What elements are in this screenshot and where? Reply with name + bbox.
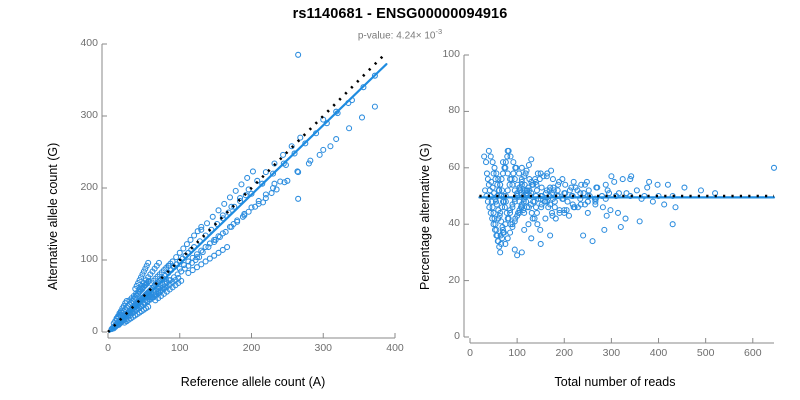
scatter-point <box>482 154 487 159</box>
right-x-axis-title: Total number of reads <box>470 375 760 389</box>
scatter-point <box>698 188 703 193</box>
scatter-point <box>600 205 605 210</box>
scatter-point <box>550 177 555 182</box>
scatter-point <box>647 179 652 184</box>
scatter-point <box>505 188 510 193</box>
scatter-point <box>585 210 590 215</box>
scatter-point <box>484 171 489 176</box>
scatter-point <box>486 148 491 153</box>
scatter-point <box>608 208 613 213</box>
scatter-point <box>296 196 301 201</box>
scatter-point <box>535 222 540 227</box>
scatter-point <box>620 177 625 182</box>
scatter-point <box>239 182 244 187</box>
x-tick-label: 100 <box>155 342 205 354</box>
scatter-point <box>511 160 516 165</box>
scatter-point <box>560 177 565 182</box>
scatter-point <box>522 227 527 232</box>
scatter-point <box>269 191 274 196</box>
axes-group <box>464 55 774 343</box>
x-tick-label: 500 <box>681 347 731 359</box>
identity-line <box>108 53 386 332</box>
y-tick-label: 0 <box>416 330 460 342</box>
scatter-point <box>602 227 607 232</box>
scatter-point <box>216 208 221 213</box>
y-tick-label: 400 <box>54 37 98 49</box>
scatter-point <box>618 225 623 230</box>
scatter-point <box>603 182 608 187</box>
scatter-point <box>334 137 339 142</box>
x-tick-label: 200 <box>539 347 589 359</box>
scatter-point <box>245 175 250 180</box>
scatter-point <box>174 255 179 260</box>
scatter-point <box>534 188 539 193</box>
scatter-point <box>581 233 586 238</box>
scatter-point <box>665 182 670 187</box>
scatter-point <box>623 216 628 221</box>
scatter-point <box>498 250 503 255</box>
scatter-point <box>604 213 609 218</box>
left-plot-svg <box>0 0 410 400</box>
scatter-point <box>548 233 553 238</box>
y-tick-label: 60 <box>416 161 460 173</box>
scatter-point <box>372 104 377 109</box>
scatter-point <box>655 182 660 187</box>
scatter-point <box>552 205 557 210</box>
scatter-point <box>673 205 678 210</box>
scatter-point <box>637 219 642 224</box>
scatter-point <box>662 202 667 207</box>
scatter-point <box>225 245 230 250</box>
y-tick-label: 0 <box>54 325 98 337</box>
scatter-point <box>508 154 513 159</box>
scatter-point <box>650 199 655 204</box>
y-tick-label: 300 <box>54 109 98 121</box>
scatter-point <box>321 117 326 122</box>
x-tick-label: 300 <box>586 347 636 359</box>
scatter-panel-reads-vs-percentage: Percentage alternative (G) Total number … <box>410 0 800 400</box>
scatter-point <box>192 233 197 238</box>
scatter-point <box>566 213 571 218</box>
left-y-axis-title: Alternative allele count (G) <box>46 143 60 290</box>
scatter-point <box>508 230 513 235</box>
scatter-point <box>512 247 517 252</box>
scatter-point <box>529 236 534 241</box>
scatter-point <box>227 195 232 200</box>
x-tick-label: 600 <box>728 347 778 359</box>
scatter-point <box>519 250 524 255</box>
scatter-point <box>188 237 193 242</box>
scatter-point <box>538 227 543 232</box>
scatter-point <box>499 177 504 182</box>
scatter-point <box>205 221 210 226</box>
scatter-point <box>609 174 614 179</box>
scatter-point <box>181 246 186 251</box>
scatter-point <box>529 210 534 215</box>
scatter-point <box>222 201 227 206</box>
regression-line <box>109 64 386 332</box>
scatter-panel-reference-vs-alternative: Alternative allele count (G) Reference a… <box>0 0 410 400</box>
scatter-point <box>511 171 516 176</box>
scatter-point <box>360 115 365 120</box>
scatter-point <box>485 177 490 182</box>
right-plot-svg <box>410 0 800 400</box>
scatter-point <box>505 236 510 241</box>
figure-canvas: rs1140681 - ENSG00000094916 p-value: 4.2… <box>0 0 800 400</box>
scatter-point <box>526 222 531 227</box>
scatter-point <box>210 214 215 219</box>
scatter-point <box>772 165 777 170</box>
x-tick-label: 100 <box>492 347 542 359</box>
data-layer <box>479 148 776 257</box>
y-tick-label: 40 <box>416 217 460 229</box>
scatter-point <box>553 216 558 221</box>
scatter-point <box>347 126 352 131</box>
scatter-point <box>615 210 620 215</box>
x-tick-label: 200 <box>227 342 277 354</box>
scatter-point <box>484 160 489 165</box>
scatter-point <box>549 168 554 173</box>
left-x-axis-title: Reference allele count (A) <box>108 375 398 389</box>
scatter-point <box>487 205 492 210</box>
scatter-point <box>543 216 548 221</box>
scatter-point <box>563 182 568 187</box>
scatter-point <box>586 188 591 193</box>
scatter-point <box>177 250 182 255</box>
scatter-point <box>612 179 617 184</box>
scatter-point <box>515 253 520 258</box>
scatter-point <box>328 144 333 149</box>
x-tick-label: 0 <box>83 342 133 354</box>
scatter-point <box>533 205 538 210</box>
x-tick-label: 300 <box>298 342 348 354</box>
scatter-point <box>317 152 322 157</box>
scatter-point <box>492 191 497 196</box>
scatter-point <box>590 239 595 244</box>
scatter-point <box>571 179 576 184</box>
y-tick-label: 80 <box>416 104 460 116</box>
scatter-point <box>488 154 493 159</box>
scatter-point <box>538 241 543 246</box>
scatter-point <box>529 157 534 162</box>
y-tick-label: 100 <box>54 253 98 265</box>
scatter-point <box>526 162 531 167</box>
data-layer <box>108 52 386 332</box>
scatter-point <box>539 185 544 190</box>
scatter-point <box>534 210 539 215</box>
scatter-points <box>482 148 777 257</box>
scatter-point <box>634 188 639 193</box>
scatter-point <box>645 185 650 190</box>
scatter-point <box>517 171 522 176</box>
scatter-point <box>296 52 301 57</box>
scatter-point <box>184 242 189 247</box>
scatter-point <box>519 165 524 170</box>
y-tick-label: 100 <box>416 48 460 60</box>
x-tick-label: 400 <box>634 347 684 359</box>
x-tick-label: 0 <box>445 347 495 359</box>
y-tick-label: 20 <box>416 274 460 286</box>
scatter-point <box>321 147 326 152</box>
scatter-point <box>233 188 238 193</box>
scatter-point <box>490 160 495 165</box>
scatter-point <box>670 222 675 227</box>
scatter-point <box>492 165 497 170</box>
scatter-point <box>281 152 286 157</box>
scatter-point <box>682 185 687 190</box>
y-tick-label: 200 <box>54 181 98 193</box>
scatter-point <box>250 169 255 174</box>
